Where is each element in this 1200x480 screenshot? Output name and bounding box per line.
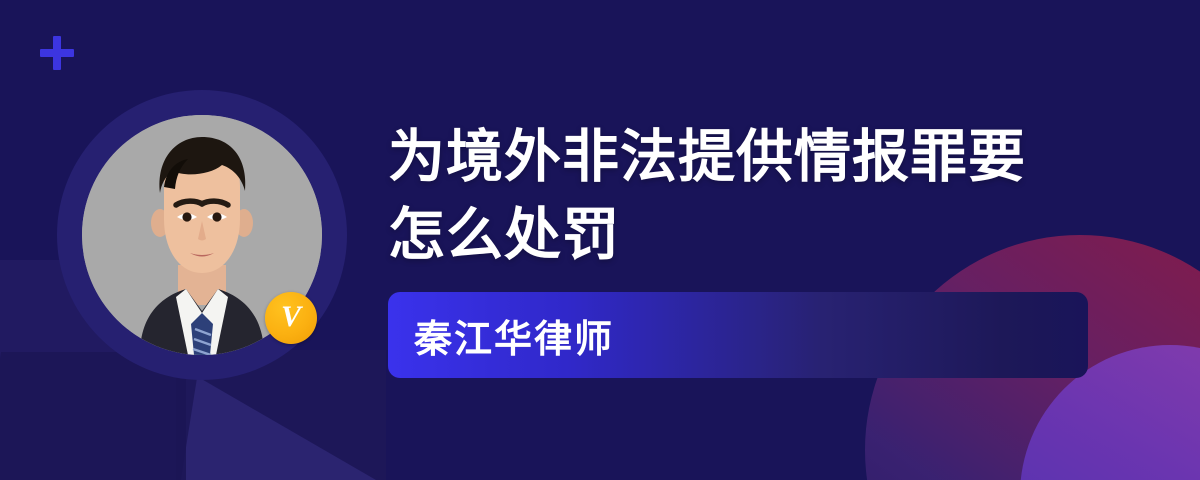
content-block: 为境外非法提供情报罪要怎么处罚 秦江华律师: [388, 118, 1088, 378]
author-name-badge[interactable]: 秦江华律师: [388, 292, 1088, 378]
lawyer-banner-card: V 为境外非法提供情报罪要怎么处罚 秦江华律师: [0, 0, 1200, 480]
avatar[interactable]: V: [57, 90, 347, 380]
verified-badge-label: V: [281, 302, 301, 332]
verified-badge-icon: V: [265, 292, 317, 344]
plus-icon: [40, 36, 74, 70]
author-name-label: 秦江华律师: [388, 308, 614, 363]
page-title: 为境外非法提供情报罪要怎么处罚: [388, 118, 1068, 274]
